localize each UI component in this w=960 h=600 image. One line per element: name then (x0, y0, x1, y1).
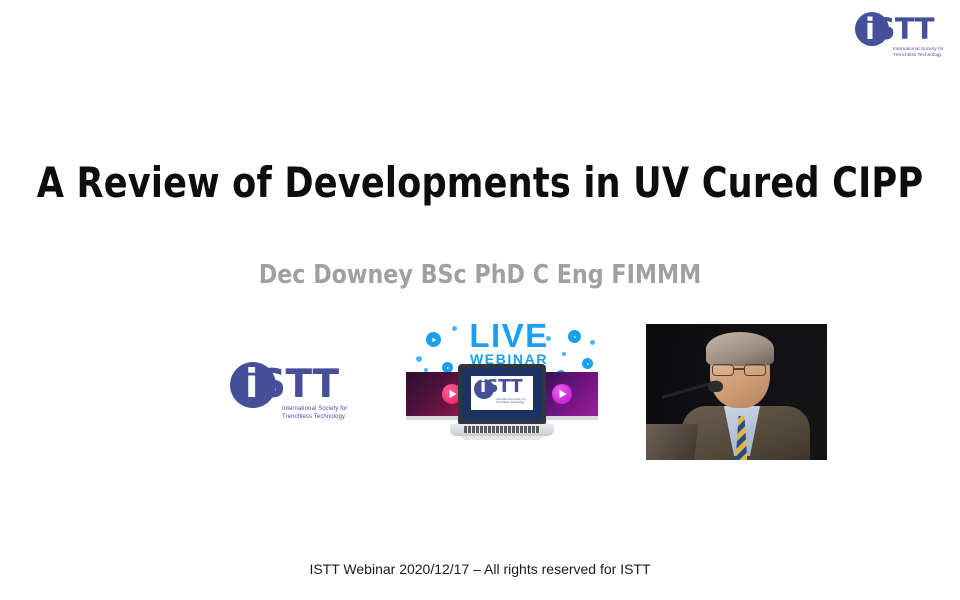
play-bubble-icon (582, 358, 593, 369)
istt-letter-i: i (245, 362, 258, 407)
photo-glasses-lens-left (712, 364, 734, 376)
slide-title: A Review of Developments in UV Cured CIP… (34, 158, 927, 207)
laptop-keyboard (464, 426, 540, 433)
istt-logo-large: iSTT International Society for Trenchles… (228, 360, 350, 424)
decorative-dot (562, 352, 566, 356)
istt-logo-mark: iSTT International Society for Trenchles… (853, 10, 953, 62)
presentation-slide: iSTT International Society for Trenchles… (0, 0, 960, 600)
istt-wordmark: iSTT (245, 360, 339, 409)
media-row: iSTT International Society for Trenchles… (0, 318, 960, 468)
live-webinar-graphic: LIVE WEBINAR (404, 318, 600, 464)
istt-tagline-line2: Trenchless Technology (893, 52, 955, 58)
istt-logo-mark-large: iSTT International Society for Trenchles… (228, 360, 350, 424)
photo-podium (646, 424, 698, 460)
photo-glasses-lens-right (744, 364, 766, 376)
istt-tagline: International Society for Trenchless Tec… (496, 398, 530, 405)
decorative-dot (416, 356, 422, 362)
istt-logo-on-screen: iSTT International Society for Trenchles… (471, 376, 533, 410)
play-bubble-icon (426, 332, 441, 347)
photo-glasses-bridge (734, 368, 744, 370)
laptop-screen: iSTT International Society for Trenchles… (462, 368, 542, 420)
laptop-lid: iSTT International Society for Trenchles… (458, 364, 546, 424)
speaker-photo (646, 324, 827, 460)
istt-tagline-line1: International Society for (282, 406, 362, 414)
decorative-dot (452, 326, 457, 331)
istt-letters-stt: STT (486, 376, 522, 397)
webinar-screens: iSTT International Society for Trenchles… (404, 372, 600, 464)
laptop-front-edge (462, 436, 542, 440)
photo-speaker-glasses (712, 364, 768, 376)
photo-speaker-hair (706, 332, 774, 366)
istt-letters-stt: STT (874, 12, 934, 46)
play-bubble-icon (568, 330, 581, 343)
istt-tagline: International Society for Trenchless Tec… (893, 46, 955, 58)
istt-logo-corner: iSTT International Society for Trenchles… (853, 10, 953, 62)
slide-subtitle: Dec Downey BSc PhD C Eng FIMMM (24, 260, 936, 290)
right-play-button-icon (552, 384, 572, 404)
istt-letters-stt: STT (258, 362, 339, 407)
istt-wordmark: iSTT (865, 11, 934, 47)
decorative-dot (590, 340, 595, 345)
istt-tagline-line2: Trenchless Technology (282, 414, 362, 422)
photo-microphone-head (708, 381, 723, 392)
istt-wordmark: iSTT (480, 375, 522, 398)
laptop-illustration: iSTT International Society for Trenchles… (450, 364, 554, 456)
decorative-dot (546, 336, 551, 341)
slide-footer: ISTT Webinar 2020/12/17 – All rights res… (0, 561, 960, 577)
istt-tagline: International Society for Trenchless Tec… (282, 406, 362, 421)
istt-tagline-line2: Trenchless Technology (496, 401, 530, 404)
